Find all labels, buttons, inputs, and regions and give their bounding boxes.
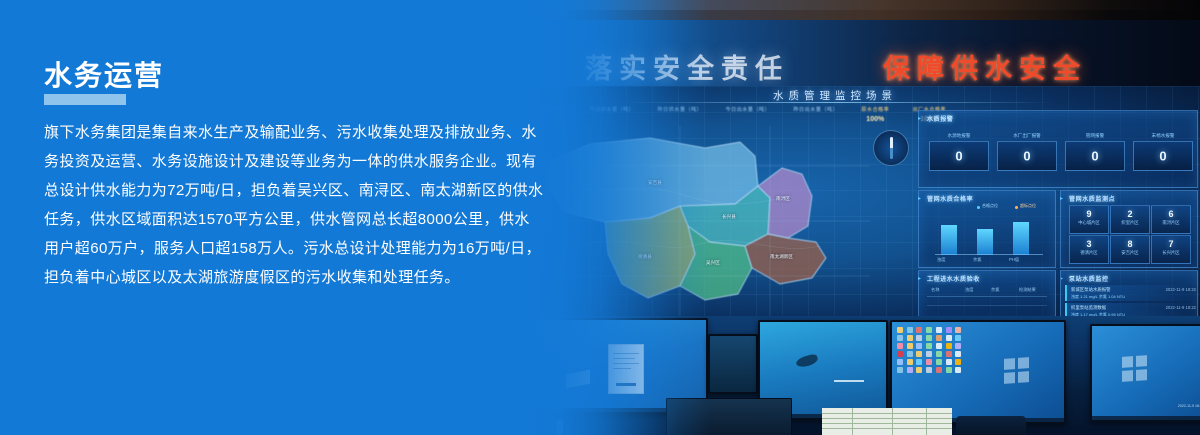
laptop-front	[666, 398, 792, 435]
monitor-taskbar	[1092, 416, 1200, 420]
panel-title: 管网水质合格率	[927, 194, 973, 203]
region-map-svg	[530, 126, 870, 316]
monitor-center-small	[708, 334, 758, 394]
pump-log-date: 2022-11-9 18:22	[1166, 305, 1196, 310]
control-room-photo: 落实安全责任 保障供水安全 水质管理监控场景 年供水总量（万吨） 今日供水量（吨…	[470, 0, 1200, 435]
panel-pipeline-pass-rate: ▸ 管网水质合格率 合格点位 超标点位 浊度 余氯 PH值	[918, 190, 1056, 268]
desktop-icon-grid	[897, 327, 963, 373]
photo-inner: 落实安全责任 保障供水安全 水质管理监控场景 年供水总量（万吨） 今日供水量（吨…	[470, 0, 1200, 435]
kpi-label: 原水合格率	[861, 106, 889, 113]
dashboard-title: 水质管理监控场景	[470, 88, 1200, 103]
text-column: 水务运营 旗下水务集团是集自来水生产及输配业务、污水收集处理及排放业务、水 务投…	[0, 0, 560, 435]
panel-arrow-icon: ▸	[1060, 195, 1063, 202]
panel-title: 工程进水水质验收	[927, 274, 980, 283]
alarm-tile-caption: 水源地报警	[930, 133, 988, 139]
panel-project-acceptance: ▸ 工程进水水质验收 名称 浊度 余氯 检测结果	[918, 270, 1056, 322]
alarm-tile[interactable]: 水厂出厂报警 0	[997, 141, 1057, 171]
alarm-tile[interactable]: 水源地报警 0	[929, 141, 989, 171]
spreadsheet-screen	[822, 408, 952, 435]
page-title: 水务运营	[44, 54, 164, 94]
pump-log-name: 织里泵站监测数据	[1071, 305, 1106, 311]
alarm-tile-value: 0	[998, 149, 1056, 164]
table-column-header: 检测结果	[1019, 287, 1036, 293]
windows-logo-icon	[1122, 355, 1148, 383]
monitoring-cell-value: 2	[1111, 209, 1149, 219]
paragraph-line: 务投资及运营、水务设施设计及建设等业务为一体的供水服务企业。现有	[44, 147, 554, 176]
monitor-right-desktop: 2022-11-9 18:25	[1090, 324, 1200, 422]
water-quality-dashboard: 水质管理监控场景 年供水总量（万吨） 今日供水量（吨） 昨日供水量（吨）	[470, 86, 1200, 324]
paragraph-line: 用户超60万户，服务人口超158万人。污水总设计处理能力为16万吨/日，	[44, 234, 554, 263]
chart-axis-label: PH值	[1009, 257, 1019, 263]
slogan-wall: 落实安全责任 保障供水安全	[470, 20, 1200, 92]
operator-desk-area: 2022-11-9 18:25	[470, 316, 1200, 435]
map-label-nantaihu: 南太湖新区	[770, 254, 793, 260]
monitor-screen	[710, 336, 756, 392]
pump-log-detail: 浊度 1.21 mg/L 余氯 1.04 NTU	[1071, 294, 1125, 300]
monitoring-cell-value: 3	[1070, 239, 1108, 249]
slogan-left: 落实安全责任	[585, 47, 789, 86]
panel-title: 水质报警	[927, 114, 953, 123]
map-label-nanxun: 南浔区	[776, 196, 790, 202]
alarm-tile-caption: 末梢水报警	[1134, 133, 1192, 139]
panel-arrow-icon: ▸	[918, 195, 921, 202]
table-column-header: 名称	[931, 287, 939, 293]
alarm-tile-value: 0	[1134, 149, 1192, 164]
table-column-header: 余氯	[991, 287, 999, 293]
slogan-right: 保障供水安全	[883, 47, 1087, 86]
legend-label-pass: 合格点位	[982, 203, 998, 209]
screen-caption-bar	[834, 380, 864, 382]
panel-arrow-icon: ▸	[918, 275, 921, 282]
paragraph-line: 任务，供水区域面积达1570平方公里，供水管网总长超8000公里，供水	[44, 205, 554, 234]
monitoring-cell[interactable]: 8 安吉片区	[1110, 235, 1150, 264]
legend-label-exceed: 超标点位	[1020, 203, 1036, 209]
dashboard-title-rule	[620, 102, 1050, 103]
region-map: 安吉县 长兴县 德清县 吴兴区 南浔区 南太湖新区	[530, 126, 870, 316]
paragraph-line: 旗下水务集团是集自来水生产及输配业务、污水收集处理及排放业务、水	[44, 118, 554, 147]
panel-title: 管网水质监测点	[1069, 194, 1115, 203]
pump-log-row[interactable]: 新城区泵站水质报警 浊度 1.21 mg/L 余氯 1.04 NTU 2022-…	[1065, 285, 1198, 301]
kpi-label: 今日供水量（吨）	[590, 106, 635, 113]
panel-arrow-icon: ▸	[1060, 275, 1063, 282]
legend-dot-pass	[977, 206, 980, 209]
monitoring-cell-label: 中心城片区	[1070, 220, 1108, 226]
kpi-label: 今日出水量（吨）	[725, 106, 770, 113]
alarm-tile-value: 0	[930, 149, 988, 164]
table-divider	[927, 296, 1047, 297]
map-label-wuxing: 吴兴区	[706, 260, 720, 266]
map-label-anji: 安吉县	[648, 180, 662, 186]
paragraph-line: 担负着中心城区以及太湖旅游度假区的污水收集和处理任务。	[44, 263, 554, 292]
panel-water-quality-alarm: ▸ 水质报警 水源地报警 0 水厂出厂报警 0 管网报警 0	[918, 110, 1198, 188]
table-divider	[927, 305, 1047, 306]
alarm-tile[interactable]: 管网报警 0	[1065, 141, 1125, 171]
operator-chair	[956, 416, 1026, 435]
kpi-value: 100%	[861, 116, 889, 123]
water-operations-banner: 落实安全责任 保障供水安全 水质管理监控场景 年供水总量（万吨） 今日供水量（吨…	[0, 0, 1200, 435]
monitoring-cell[interactable]: 6 南浔片区	[1151, 205, 1191, 234]
alarm-tile-caption: 水厂出厂报警	[998, 133, 1056, 139]
document-window	[608, 344, 644, 394]
legend-dot-exceed	[1015, 206, 1018, 209]
monitoring-cell-value: 6	[1152, 209, 1190, 219]
panel-title: 泵站水质监控	[1069, 274, 1109, 283]
chart-axis-label: 余氯	[973, 257, 981, 263]
pump-log-name: 新城区泵站水质报警	[1071, 287, 1111, 293]
panel-pump-station-monitoring: ▸ 泵站水质监控 新城区泵站水质报警 浊度 1.21 mg/L 余氯 1.04 …	[1060, 270, 1198, 322]
desktop-watermark: 2022-11-9 18:25	[1178, 404, 1200, 408]
paragraph-line: 总设计供水能力为72万吨/日，担负着吴兴区、南浔区、南太湖新区的供水	[44, 176, 554, 205]
kpi-label: 昨日供水量（吨）	[657, 106, 702, 113]
monitoring-cell-label: 南浔片区	[1152, 220, 1190, 226]
kpi-label: 昨日出水量（吨）	[793, 106, 838, 113]
pass-rate-chart	[935, 215, 1043, 255]
map-label-changxing: 长兴县	[722, 214, 736, 220]
title-underline-bar	[44, 94, 126, 105]
pump-log-date: 2022-11-9 18:22	[1166, 287, 1196, 292]
ceiling-sheen	[470, 0, 1200, 10]
monitoring-cell[interactable]: 7 长兴片区	[1151, 235, 1191, 264]
monitoring-cell[interactable]: 2 织里片区	[1110, 205, 1150, 234]
monitoring-cell-label: 长兴片区	[1152, 250, 1190, 256]
monitoring-cell-value: 9	[1070, 209, 1108, 219]
alarm-tile-value: 0	[1066, 149, 1124, 164]
map-label-deqing: 德清县	[638, 254, 652, 260]
table-column-header: 浊度	[965, 287, 973, 293]
panel-monitoring-points: ▸ 管网水质监测点 9 中心城片区 2 织里片区 6 南浔片区	[1060, 190, 1198, 268]
map-compass-icon	[873, 130, 909, 166]
monitoring-cell-value: 7	[1152, 239, 1190, 249]
monitoring-cell[interactable]: 9 中心城片区	[1069, 205, 1109, 234]
windows-logo-icon	[1004, 357, 1030, 385]
monitoring-cell-value: 8	[1111, 239, 1149, 249]
alarm-tile[interactable]: 末梢水报警 0	[1133, 141, 1193, 171]
description-paragraph: 旗下水务集团是集自来水生产及输配业务、污水收集处理及排放业务、水 务投资及运营、…	[44, 118, 554, 292]
monitoring-cell-label: 织里片区	[1111, 220, 1149, 226]
alarm-tile-caption: 管网报警	[1066, 133, 1124, 139]
monitoring-cell[interactable]: 3 德清片区	[1069, 235, 1109, 264]
panel-arrow-icon: ▸	[918, 115, 921, 122]
monitoring-cell-label: 德清片区	[1070, 250, 1108, 256]
chart-axis-label: 浊度	[937, 257, 945, 263]
monitoring-cell-label: 安吉片区	[1111, 250, 1149, 256]
